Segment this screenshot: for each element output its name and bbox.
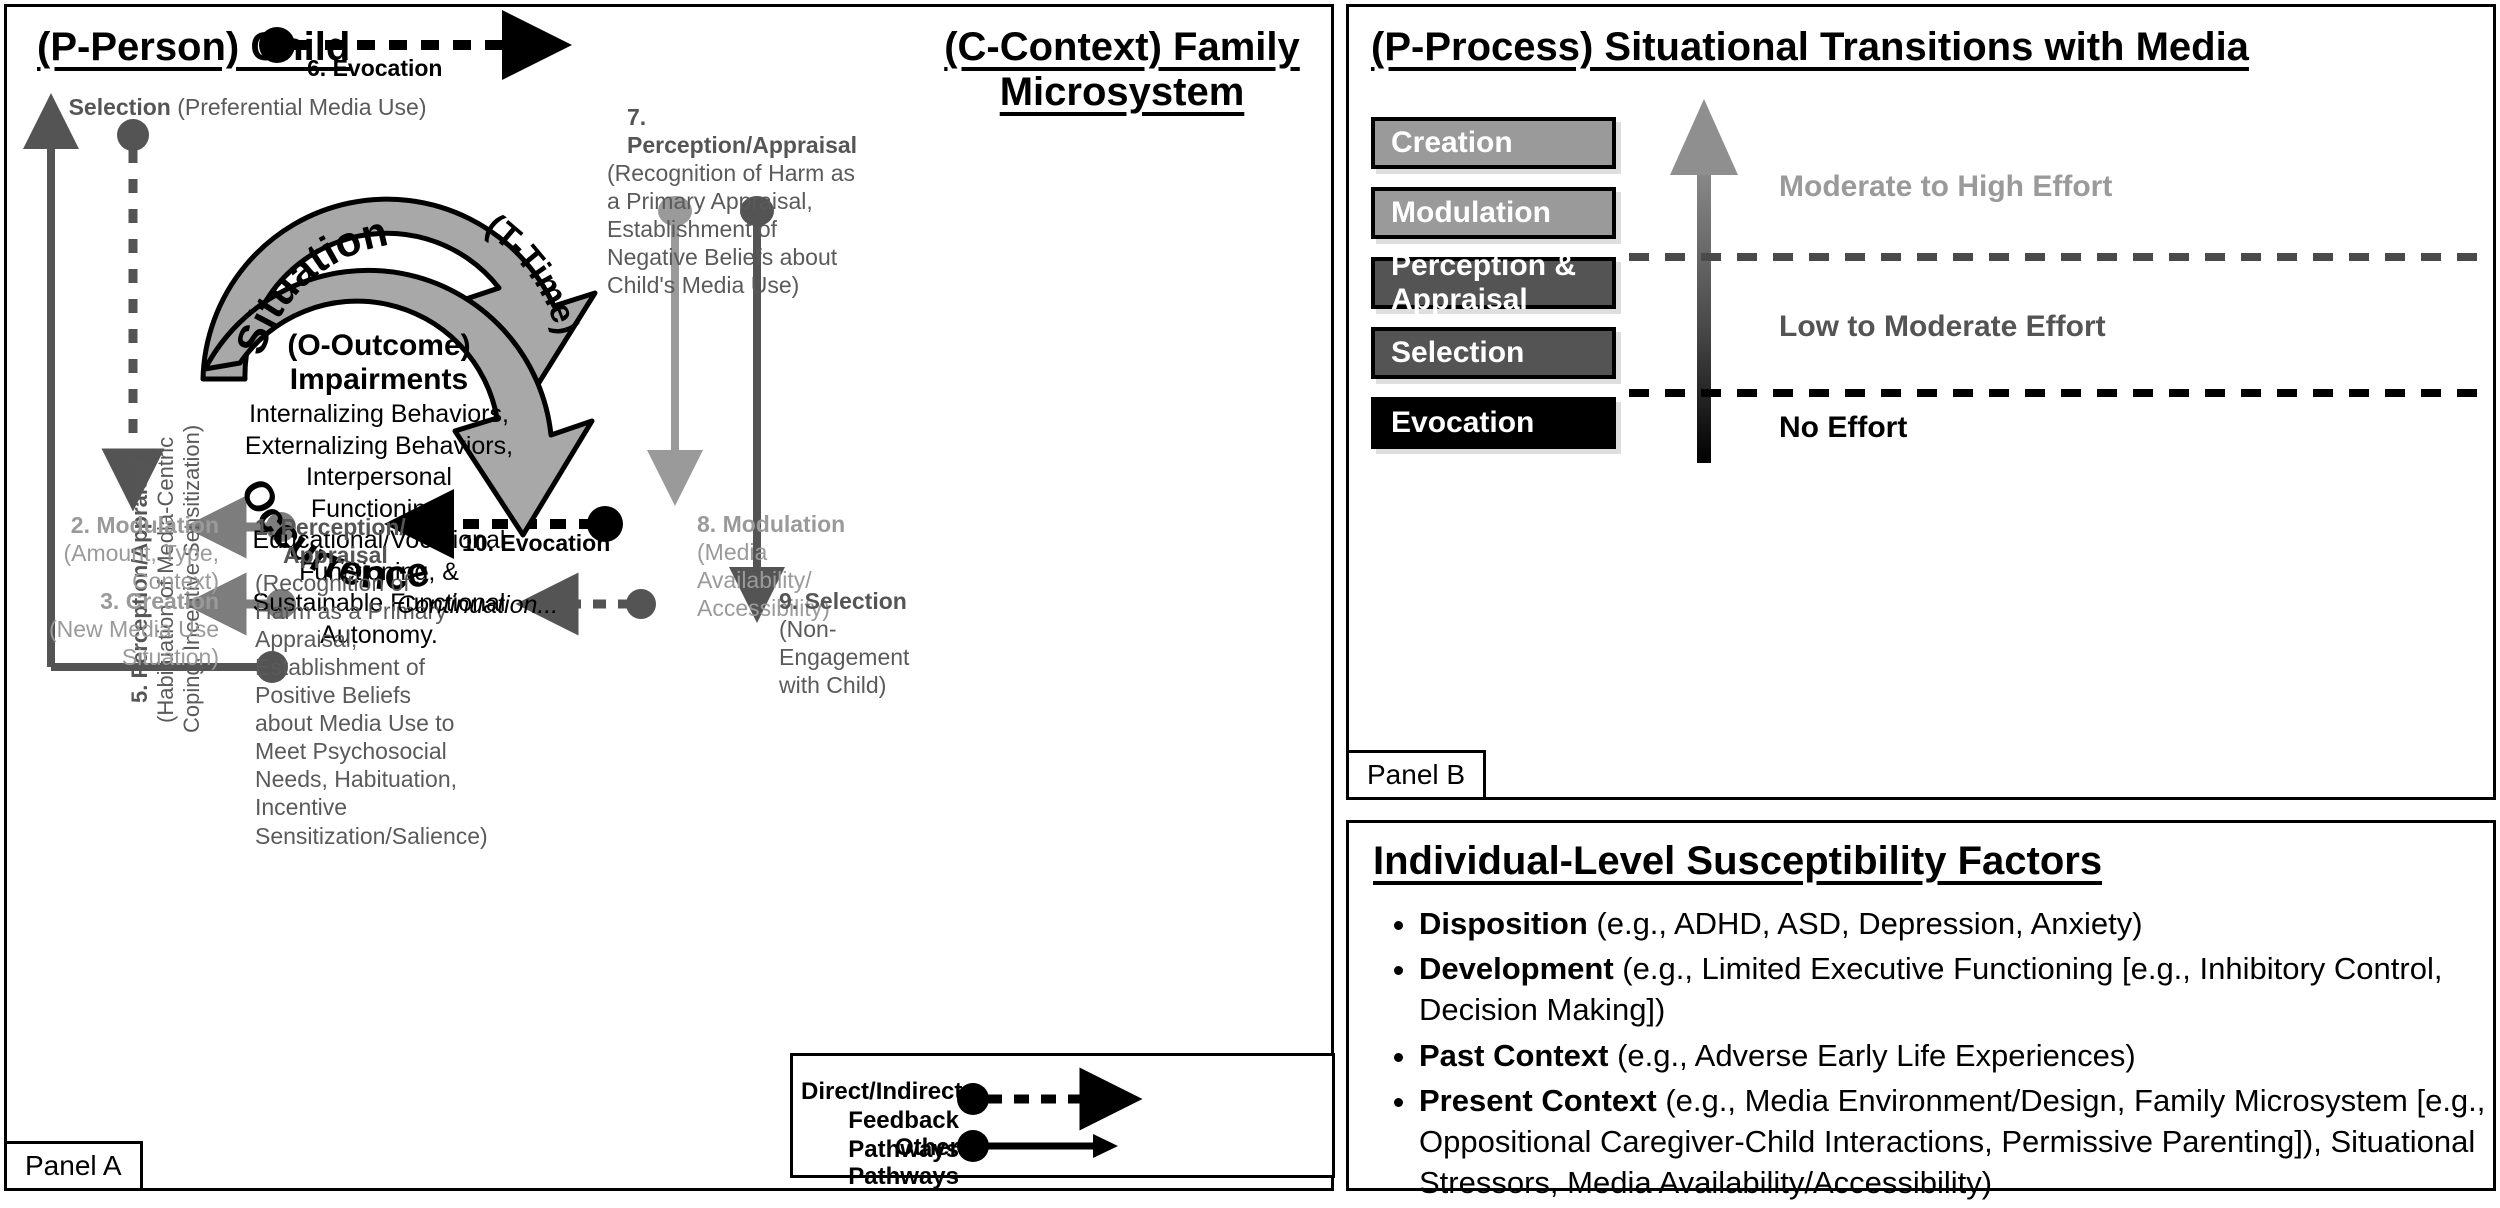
panel-b: (P-Process) Situational Transitions with…: [1346, 4, 2496, 800]
list-item: Disposition (e.g., ADHD, ASD, Depression…: [1419, 903, 2499, 944]
list-item: Development (e.g., Limited Executive Fun…: [1419, 948, 2499, 1030]
label-modulation-8-bold: 8. Modulation: [697, 510, 857, 538]
label-perception-7: 7. Perception/Appraisal (Recognition of …: [607, 103, 867, 299]
label-selection-9: 9. Selection (Non-Engagement with Child): [779, 587, 939, 699]
label-selection-4-rest: (Preferential Media Use): [177, 94, 426, 120]
label-modulation-2-bold: 2. Modulation: [29, 511, 219, 539]
legend-arrowhead-other: [1093, 1134, 1118, 1158]
legend-arrowhead-feedback: [1093, 1087, 1118, 1111]
label-creation-3: 3. Creation (New Media Use Situation): [29, 587, 219, 671]
outcome-title-line1: (O-Outcome): [239, 329, 519, 363]
panel-a-tab: Panel A: [4, 1141, 143, 1191]
panel-b-tab: Panel B: [1346, 750, 1486, 800]
label-creation-3-body: (New Media Use Situation): [29, 615, 219, 671]
effort-label-no-effort: No Effort: [1779, 411, 1907, 445]
label-creation-3-bold: 3. Creation: [29, 587, 219, 615]
effort-label-low-moderate: Low to Moderate Effort: [1779, 310, 2106, 344]
label-evocation-6: 6. Evocation: [307, 55, 442, 82]
panel-a: Situation Occurrence (T-Time) (P-Person)…: [4, 4, 1334, 1191]
label-perception-1-bold-line2: Appraisal: [283, 541, 467, 569]
label-selection-4-bold: 4. Selection: [43, 94, 171, 120]
label-selection-9-body: (Non-Engagement with Child): [779, 615, 939, 699]
label-perception-1-bold-line1: 1. Perception/: [255, 513, 467, 541]
list-item: Past Context (e.g., Adverse Early Life E…: [1419, 1035, 2499, 1076]
label-perception-1: 1. Perception/ Appraisal (Recognition of…: [255, 513, 467, 850]
label-perception-7-bold: 7. Perception/Appraisal: [627, 103, 867, 159]
legend-label-other: Other Pathways: [801, 1134, 959, 1192]
effort-arrow-head: [1670, 99, 1738, 175]
effort-arrow-shaft: [1697, 157, 1711, 463]
legend-box: Direct/Indirect Feedback Pathways Other …: [790, 1053, 1335, 1178]
susceptibility-item-0-bold: Disposition: [1419, 906, 1588, 941]
susceptibility-list: Disposition (e.g., ADHD, ASD, Depression…: [1373, 903, 2499, 1208]
label-selection-9-bold: 9. Selection: [779, 587, 939, 615]
label-continuation: Continuation...: [397, 591, 558, 620]
label-selection-4: 4. Selection (Preferential Media Use): [43, 93, 426, 121]
page-title-context: (C-Context) Family Microsystem: [907, 25, 1337, 115]
legend-label-feedback-line1: Direct/Indirect Feedback: [801, 1078, 962, 1134]
susceptibility-item-1-bold: Development: [1419, 951, 1614, 986]
outcome-title-line2: Impairments: [239, 363, 519, 397]
label-modulation-2: 2. Modulation (Amount, Type, Context): [29, 511, 219, 595]
panel-c-susceptibility: Individual-Level Susceptibility Factors …: [1346, 820, 2496, 1191]
susceptibility-item-2-bold: Past Context: [1419, 1038, 1608, 1073]
panel-b-graphics: [1349, 7, 2499, 803]
susceptibility-item-0-rest: (e.g., ADHD, ASD, Depression, Anxiety): [1588, 906, 2143, 941]
susceptibility-item-3-bold: Present Context: [1419, 1083, 1657, 1118]
label-evocation-10: 10. Evocation: [462, 530, 610, 557]
label-perception-7-body: (Recognition of Harm as a Primary Apprai…: [607, 159, 867, 299]
node-perception-5: [117, 119, 149, 151]
list-item: Present Context (e.g., Media Environment…: [1419, 1080, 2499, 1204]
panel-c-title: Individual-Level Susceptibility Factors: [1373, 839, 2102, 884]
susceptibility-item-2-rest: (e.g., Adverse Early Life Experiences): [1608, 1038, 2135, 1073]
legend-node-other: [957, 1130, 989, 1162]
effort-label-moderate-high: Moderate to High Effort: [1779, 170, 2112, 204]
page-title-person: (P-Person) Child: [37, 25, 350, 70]
